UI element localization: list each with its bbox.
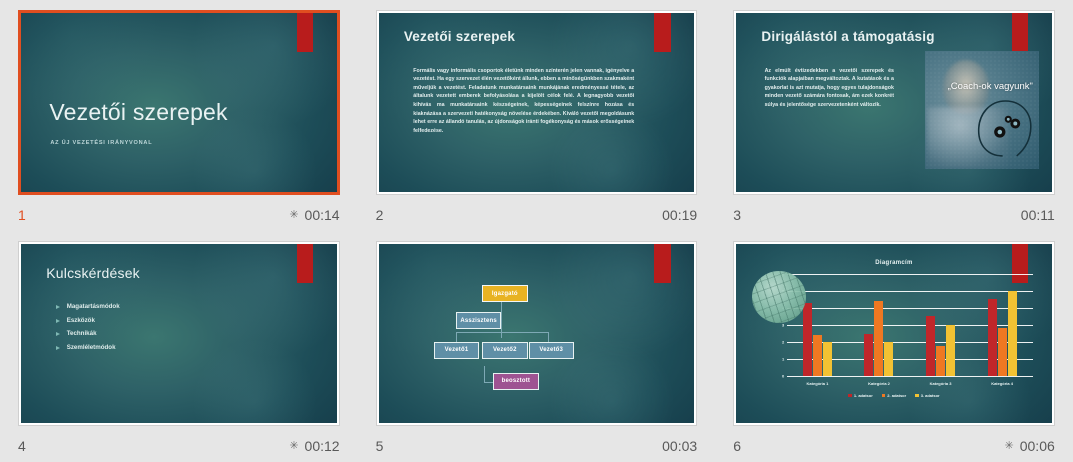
org-node-manager-2[interactable]: Vezető2 bbox=[482, 342, 527, 359]
slide-timing[interactable]: 00:14 bbox=[305, 207, 340, 223]
slide-caption-row-6: 6 ✳ 00:06 bbox=[733, 426, 1055, 461]
slide-thumbnail-1[interactable]: Vezetői szerepek AZ ÚJ VEZETÉSI IRÁNYVON… bbox=[18, 10, 340, 195]
slide-number: 6 bbox=[733, 438, 741, 454]
legend-swatch bbox=[915, 394, 919, 398]
transition-star-icon[interactable]: ✳ bbox=[289, 441, 298, 452]
slide-meta: ✳ 00:06 bbox=[1005, 438, 1055, 454]
slide-thumbnail-4[interactable]: Kulcskérdések Magatartásmódok Eszközök T… bbox=[18, 241, 340, 426]
list-item: Magatartásmódok bbox=[56, 303, 120, 310]
slide-cell-2[interactable]: Vezetői szerepek Formális vagy informáli… bbox=[358, 0, 716, 231]
legend-label: 1. adatsor bbox=[854, 393, 873, 398]
chart-bar-group bbox=[910, 274, 972, 377]
slide-number: 5 bbox=[376, 438, 384, 454]
accent-rectangle bbox=[297, 244, 313, 283]
chart-bar bbox=[864, 334, 873, 377]
chart-bar-group bbox=[848, 274, 910, 377]
slide-canvas-2: Vezetői szerepek Formális vagy informáli… bbox=[379, 13, 695, 192]
slide-timing[interactable]: 00:03 bbox=[662, 438, 697, 454]
slide-timing[interactable]: 00:19 bbox=[662, 207, 697, 223]
slide-meta: ✳ 00:14 bbox=[289, 207, 339, 223]
slide-number: 4 bbox=[18, 438, 26, 454]
list-item: Eszközök bbox=[56, 317, 120, 324]
category-label: Kategória 4 bbox=[971, 381, 1033, 386]
chart-bar bbox=[884, 342, 893, 376]
bullet-list: Magatartásmódok Eszközök Technikák Szeml… bbox=[56, 303, 120, 357]
chart-bar bbox=[874, 301, 883, 376]
y-axis-tick-label: 0 bbox=[782, 374, 784, 379]
image-caption: „Coach-ok vagyunk" bbox=[948, 81, 1033, 92]
legend-item: 2. adatsor bbox=[882, 393, 906, 398]
org-chart: Igazgató Asszisztens Vezető1 Vezető2 Vez… bbox=[379, 244, 695, 423]
slide-caption-row-2: 2 00:19 bbox=[376, 195, 698, 230]
slide-sorter-grid: Vezetői szerepek AZ ÚJ VEZETÉSI IRÁNYVON… bbox=[0, 0, 1073, 462]
slide-caption-row-5: 5 00:03 bbox=[376, 426, 698, 461]
org-node-assistant[interactable]: Asszisztens bbox=[456, 312, 501, 329]
chart-legend: 1. adatsor2. adatsor3. adatsor bbox=[736, 393, 1052, 398]
slide-thumbnail-2[interactable]: Vezetői szerepek Formális vagy informáli… bbox=[376, 10, 698, 195]
slide-cell-4[interactable]: Kulcskérdések Magatartásmódok Eszközök T… bbox=[0, 231, 358, 462]
slide-title: Dirigálástól a támogatásig bbox=[761, 29, 934, 44]
head-outline-gears-icon bbox=[966, 81, 1036, 166]
chart-bar bbox=[813, 335, 822, 376]
org-node-boss[interactable]: Igazgató bbox=[482, 285, 527, 302]
category-label: Kategória 3 bbox=[910, 381, 972, 386]
legend-item: 3. adatsor bbox=[915, 393, 939, 398]
slide-thumbnail-5[interactable]: Igazgató Asszisztens Vezető1 Vezető2 Vez… bbox=[376, 241, 698, 426]
slide-meta: 00:03 bbox=[662, 438, 697, 454]
connector bbox=[484, 366, 485, 382]
chart-bar bbox=[823, 342, 832, 376]
org-node-manager-3[interactable]: Vezető3 bbox=[529, 342, 574, 359]
chart-category-labels: Kategória 1Kategória 2Kategória 3Kategór… bbox=[787, 381, 1033, 386]
connector bbox=[456, 332, 549, 333]
slide-canvas-3: Dirigálástól a támogatásig Az elmúlt évt… bbox=[736, 13, 1052, 192]
chart-bar bbox=[926, 316, 935, 376]
slide-canvas-1: Vezetői szerepek AZ ÚJ VEZETÉSI IRÁNYVON… bbox=[21, 13, 337, 192]
chart-title: Diagramcím bbox=[736, 260, 1052, 266]
globe-decoration bbox=[752, 271, 806, 323]
chart-bars bbox=[787, 274, 1033, 377]
accent-rectangle bbox=[297, 13, 313, 52]
slide-thumbnail-3[interactable]: Dirigálástól a támogatásig Az elmúlt évt… bbox=[733, 10, 1055, 195]
legend-item: 1. adatsor bbox=[848, 393, 872, 398]
slide-timing[interactable]: 00:11 bbox=[1021, 207, 1055, 223]
org-node-subordinate[interactable]: beosztott bbox=[493, 373, 538, 390]
slide-title: Kulcskérdések bbox=[46, 265, 140, 281]
slide-body-text: Az elmúlt évtizedekben a vezetői szerepe… bbox=[765, 67, 894, 110]
legend-swatch bbox=[848, 394, 852, 398]
slide-cell-3[interactable]: Dirigálástól a támogatásig Az elmúlt évt… bbox=[715, 0, 1073, 231]
chart-plot-area: 0123456 bbox=[787, 274, 1033, 377]
slide-caption-row-3: 3 00:11 bbox=[733, 195, 1055, 230]
y-axis-tick-label: 3 bbox=[782, 323, 784, 328]
list-item: Technikák bbox=[56, 330, 120, 337]
legend-label: 2. adatsor bbox=[887, 393, 906, 398]
slide-body-text: Formális vagy informális csoportok életü… bbox=[413, 67, 634, 136]
accent-rectangle bbox=[1012, 13, 1028, 52]
y-axis-tick-label: 1 bbox=[782, 357, 784, 362]
slide-title: Vezetői szerepek bbox=[404, 29, 515, 44]
chart-bar bbox=[1008, 291, 1017, 377]
slide-canvas-5: Igazgató Asszisztens Vezető1 Vezető2 Vez… bbox=[379, 244, 695, 423]
slide-number: 2 bbox=[376, 207, 384, 223]
y-axis-tick-label: 2 bbox=[782, 340, 784, 345]
slide-number: 1 bbox=[18, 207, 26, 223]
slide-number: 3 bbox=[733, 207, 741, 223]
slide-meta: ✳ 00:12 bbox=[289, 438, 339, 454]
slide-timing[interactable]: 00:06 bbox=[1020, 438, 1055, 454]
chart-bar-group bbox=[971, 274, 1033, 377]
slide-canvas-6: Diagramcím 0123456 Kategória 1Kategória … bbox=[736, 244, 1052, 423]
slide-meta: 00:11 bbox=[1021, 207, 1055, 223]
chart-bar bbox=[936, 346, 945, 377]
slide-cell-6[interactable]: Diagramcím 0123456 Kategória 1Kategória … bbox=[715, 231, 1073, 462]
list-item: Szemléletmódok bbox=[56, 344, 120, 351]
chart-bar bbox=[998, 328, 1007, 376]
accent-rectangle bbox=[654, 13, 670, 52]
chart-bar bbox=[988, 299, 997, 376]
slide-caption-row-4: 4 ✳ 00:12 bbox=[18, 426, 340, 461]
slide-title: Vezetői szerepek bbox=[49, 99, 227, 126]
category-label: Kategória 1 bbox=[787, 381, 849, 386]
legend-label: 3. adatsor bbox=[921, 393, 940, 398]
coach-photo: „Coach-ok vagyunk" bbox=[925, 51, 1039, 169]
chart-bar bbox=[946, 325, 955, 376]
slide-caption-row-1: 1 ✳ 00:14 bbox=[18, 195, 340, 230]
category-label: Kategória 2 bbox=[848, 381, 910, 386]
org-node-manager-1[interactable]: Vezető1 bbox=[434, 342, 479, 359]
slide-thumbnail-6[interactable]: Diagramcím 0123456 Kategória 1Kategória … bbox=[733, 241, 1055, 426]
slide-cell-5[interactable]: Igazgató Asszisztens Vezető1 Vezető2 Vez… bbox=[358, 231, 716, 462]
slide-meta: 00:19 bbox=[662, 207, 697, 223]
legend-swatch bbox=[882, 394, 886, 398]
slide-canvas-4: Kulcskérdések Magatartásmódok Eszközök T… bbox=[21, 244, 337, 423]
transition-star-icon[interactable]: ✳ bbox=[289, 210, 298, 221]
slide-timing[interactable]: 00:12 bbox=[305, 438, 340, 454]
slide-subtitle: AZ ÚJ VEZETÉSI IRÁNYVONAL bbox=[50, 140, 152, 146]
slide-cell-1[interactable]: Vezetői szerepek AZ ÚJ VEZETÉSI IRÁNYVON… bbox=[0, 0, 358, 231]
transition-star-icon[interactable]: ✳ bbox=[1005, 441, 1014, 452]
gridline bbox=[787, 376, 1033, 377]
